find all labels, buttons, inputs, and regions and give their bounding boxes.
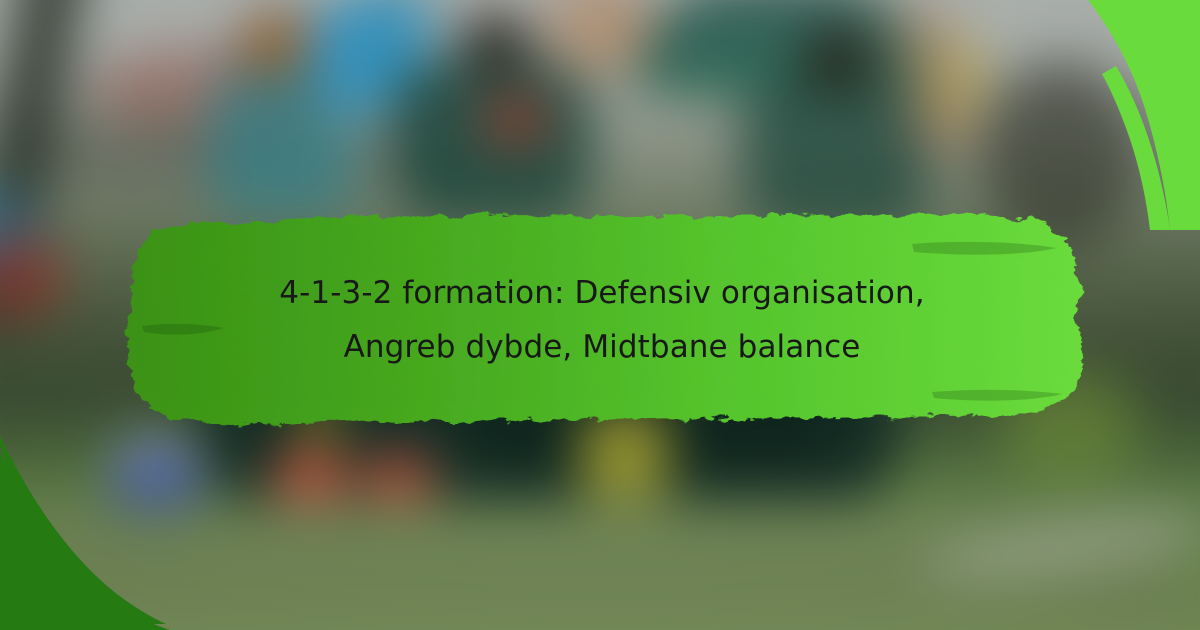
title-line-1: 4-1-3-2 formation: Defensiv organisation… [279,268,924,318]
social-card: 4-1-3-2 formation: Defensiv organisation… [0,0,1200,630]
title-banner: 4-1-3-2 formation: Defensiv organisation… [112,196,1092,444]
banner-text-block: 4-1-3-2 formation: Defensiv organisation… [112,196,1092,444]
title-line-2: Angreb dybde, Midtbane balance [344,322,861,372]
